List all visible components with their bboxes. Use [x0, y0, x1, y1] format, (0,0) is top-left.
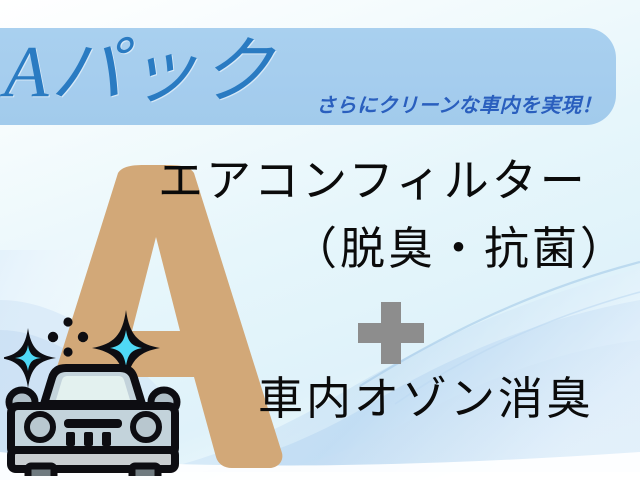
service-line-air-filter: エアコンフィルター [158, 154, 628, 208]
service-line-ozone-deodorize: 車内オゾン消臭 [258, 372, 594, 426]
plus-icon [358, 302, 424, 364]
car-front-icon [4, 308, 182, 476]
header-banner: Aパック さらにクリーンな車内を実現！ [0, 28, 616, 125]
service-line-deodorize-antibacterial: （脱臭・抗菌） [158, 222, 628, 276]
banner-subtitle: さらにクリーンな車内を実現！ [316, 94, 602, 118]
banner-title: Aパック [4, 29, 276, 115]
car-shape [9, 368, 177, 476]
promo-poster: Aパック さらにクリーンな車内を実現！ エアコンフィルター （脱臭・抗菌） 車内… [0, 0, 640, 480]
sparkle-dots [48, 317, 88, 356]
